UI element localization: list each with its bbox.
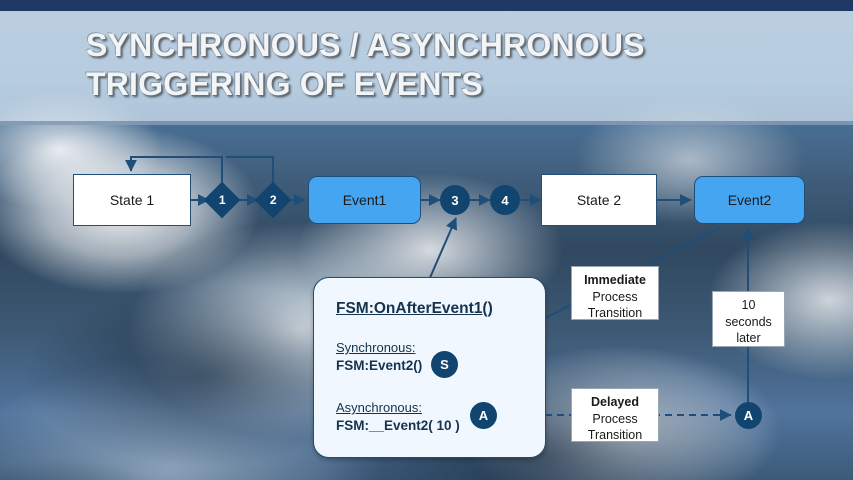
node-event-1-label: Event1 [343,192,387,208]
badge-async-a-label: A [479,408,488,423]
callout-sync-label: Synchronous: [336,340,416,355]
note-timer-line2: seconds [713,314,784,331]
note-delayed-line2: Process [572,411,658,428]
slide-canvas: SYNCHRONOUS / ASYNCHRONOUS TRIGGERING OF… [0,0,853,480]
badge-async-target-a[interactable]: A [735,402,762,429]
callout-async-code: FSM:__Event2( 10 ) [336,418,460,433]
note-immediate-line2: Process [572,289,658,306]
note-timer-10-seconds-later: 10 seconds later [712,291,785,347]
marker-diamond-2-label: 2 [270,193,277,207]
node-state-2-label: State 2 [577,192,621,208]
page-title: SYNCHRONOUS / ASYNCHRONOUS TRIGGERING OF… [86,26,806,104]
node-event-1[interactable]: Event1 [308,176,421,224]
badge-async-target-a-label: A [744,408,753,423]
title-band-edge [0,121,853,125]
node-event-2[interactable]: Event2 [694,176,805,224]
note-delayed-line1: Delayed [572,394,658,411]
node-event-2-label: Event2 [728,192,772,208]
node-state-2[interactable]: State 2 [541,174,657,226]
marker-diamond-1-label: 1 [219,193,226,207]
note-immediate-process-transition: Immediate Process Transition [571,266,659,320]
top-accent-bar [0,0,853,11]
note-immediate-line1: Immediate [572,272,658,289]
marker-circle-3-label: 3 [451,193,458,208]
note-timer-line3: later [713,330,784,347]
marker-circle-4[interactable]: 4 [490,185,520,215]
badge-sync-s[interactable]: S [431,351,458,378]
note-timer-line1: 10 [713,297,784,314]
node-state-1[interactable]: State 1 [73,174,191,226]
callout-header: FSM:OnAfterEvent1() [336,300,493,318]
callout-sync-code: FSM:Event2() [336,358,422,373]
note-delayed-line3: Transition [572,427,658,444]
fsm-callout-panel[interactable]: FSM:OnAfterEvent1() Synchronous: FSM:Eve… [313,277,546,458]
badge-async-a[interactable]: A [470,402,497,429]
note-immediate-line3: Transition [572,305,658,322]
badge-sync-s-label: S [440,357,449,372]
note-delayed-process-transition: Delayed Process Transition [571,388,659,442]
marker-circle-4-label: 4 [501,193,508,208]
callout-async-label: Asynchronous: [336,400,422,415]
node-state-1-label: State 1 [110,192,154,208]
marker-circle-3[interactable]: 3 [440,185,470,215]
